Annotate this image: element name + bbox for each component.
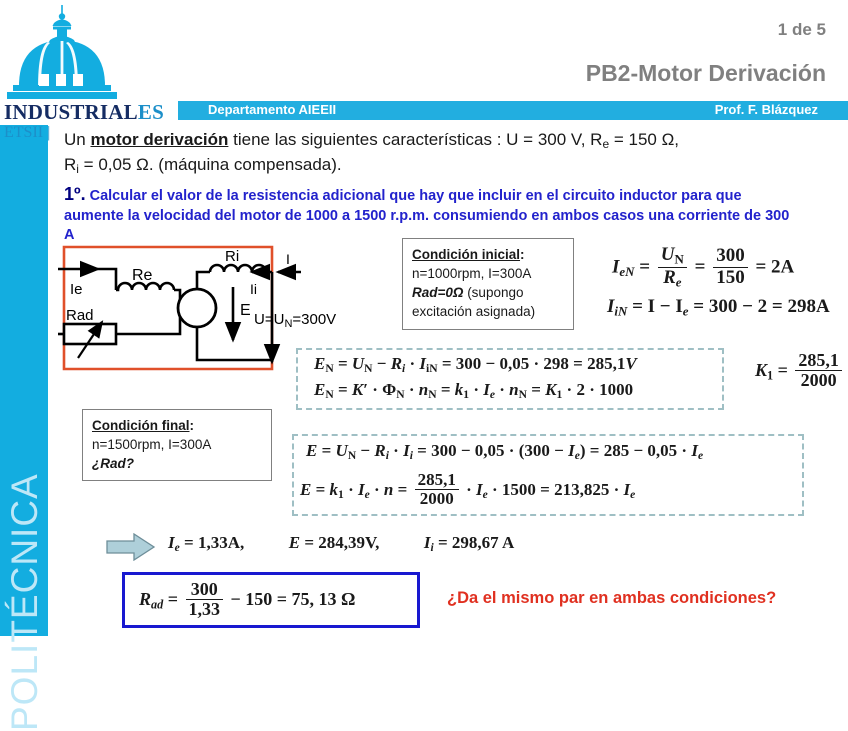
stmt-emphasis: motor derivación [90, 130, 228, 149]
cond-inicial-heading-text: Condición inicial [412, 247, 520, 262]
logo-sub-text: ETSII [4, 124, 43, 141]
stmt-line2-a: R [64, 155, 76, 174]
header-bar: Departamento AIEEII Prof. F. Blázquez [178, 101, 848, 120]
cond-inicial-colon: : [520, 247, 525, 262]
cond-inicial-line1: n=1000rpm, I=300A [412, 264, 564, 283]
result-ie-value: = 1,33A, [180, 533, 244, 552]
k1-eq: = [778, 360, 788, 380]
cond-inicial-line2: Rad=0Ω (supongo excitación asignada) [412, 283, 564, 321]
result-ii-value: = 298,67 A [434, 533, 515, 552]
condicion-inicial-box: Condición inicial: n=1000rpm, I=300A Rad… [402, 238, 574, 330]
stmt-line2-b: = 0,05 Ω. (máquina compensada). [79, 155, 342, 174]
logo-word-main: INDUSTRIAL [4, 100, 138, 124]
department-label: Departamento AIEEII [208, 102, 336, 117]
iin-rest: = 300 − 2 = 298A [689, 296, 830, 317]
condicion-final-box: Condición final: n=1500rpm, I=300A ¿Rad? [82, 409, 272, 481]
stmt-part-b: tiene las siguientes características : U… [228, 130, 602, 149]
k1-lhs-sub: 1 [767, 368, 773, 382]
label-e: E [240, 302, 251, 319]
logo-wordmark: INDUSTRIALES [4, 100, 164, 125]
right-arrow-callout-icon [106, 533, 156, 561]
ien-frac-2: 300 150 [713, 246, 748, 288]
k1-lhs: K [755, 360, 767, 380]
cond-inicial-heading: Condición inicial: [412, 245, 564, 264]
e-line-1: E = UN − Ri · Ii = 300 − 0,05 · (300 − I… [306, 441, 703, 462]
final-result-box: Rad = 300 1,33 − 150 = 75, 13 Ω [122, 572, 420, 628]
label-u: U=UN=300V [254, 311, 336, 330]
rad-result: 75, 13 Ω [292, 589, 356, 609]
rad-den: 1,33 [186, 599, 224, 619]
ien-num-u: U [661, 244, 675, 265]
cond-final-question: ¿Rad? [92, 454, 262, 473]
rad-lhs: R [139, 589, 151, 609]
dashed-box-e: E = UN − Ri · Ii = 300 − 0,05 · (300 − I… [292, 434, 804, 516]
label-ii: Ii [250, 281, 257, 297]
equation-iin: IiN = I − Ie = 300 − 2 = 298A [607, 296, 830, 320]
ien-den-r-sub: e [676, 274, 682, 289]
ien-result: 2A [771, 256, 794, 277]
results-line: Ie = 1,33A, E = 284,39V, Ii = 298,67 A [168, 533, 514, 554]
k1-fraction: 285,1 2000 [795, 351, 842, 391]
cond-final-heading: Condición final: [92, 416, 262, 435]
question-1: 1º. Calcular el valor de la resistencia … [64, 182, 799, 246]
cond-final-line1: n=1500rpm, I=300A [92, 435, 262, 454]
dome-logo-icon [5, 4, 125, 100]
dashed-box-en: EN = UN − Ri · IiN = 300 − 0,05 · 298 = … [296, 348, 724, 410]
en-line-1: EN = UN − Ri · IiN = 300 − 0,05 · 298 = … [314, 354, 637, 375]
label-ie: Ie [70, 281, 83, 298]
equation-k1: K1 = 285,1 2000 [755, 352, 845, 392]
results-arrow [106, 533, 156, 566]
page-number: 1 de 5 [778, 20, 826, 40]
ien-num-u-sub: N [675, 252, 684, 267]
result-e-label: E [289, 533, 300, 552]
rad-tail: − 150 = [231, 589, 288, 609]
ien-den-r: R [663, 267, 676, 288]
k1-num: 285,1 [795, 351, 842, 370]
en-line-2: EN = K′ · ΦN · nN = k1 · Ie · nN = K1 · … [314, 380, 633, 401]
cond-final-heading-text: Condición final [92, 418, 190, 433]
label-i: I [286, 251, 290, 267]
result-e-value: = 284,39V, [300, 533, 379, 552]
rad-fraction: 300 1,33 [186, 580, 224, 620]
label-re: Re [132, 267, 153, 284]
professor-label: Prof. F. Blázquez [715, 102, 818, 117]
label-ri: Ri [225, 248, 239, 265]
ien-frac-1: UN Re [658, 245, 687, 289]
iin-rhs: = I − I [632, 296, 683, 317]
ien-eq2: = [695, 256, 706, 277]
k1-den: 2000 [795, 370, 842, 390]
logo-word-soft: ES [138, 100, 164, 124]
ien-frac1-num: UN [658, 245, 687, 267]
page-title: PB2-Motor Derivación [586, 60, 826, 87]
cond-inicial-rad: Rad=0Ω [412, 285, 463, 300]
ien-eq1: = [639, 256, 650, 277]
equation-ien: IeN = UN Re = 300 150 = 2A [612, 246, 794, 290]
rad-lhs-sub: ad [151, 597, 163, 611]
e-line-2: E = k1 · Ie · n = 285,12000 · Ie · 1500 … [300, 472, 635, 510]
final-question: ¿Da el mismo par en ambas condiciones? [447, 589, 776, 608]
rad-equation: Rad = 300 1,33 − 150 = 75, 13 Ω [139, 581, 355, 621]
rad-num: 300 [186, 580, 224, 599]
iin-lhs-sub: iN [614, 304, 627, 319]
question-1-text: Calcular el valor de la resistencia adic… [64, 188, 789, 243]
ien-frac2-den: 150 [713, 267, 748, 289]
sidebar-vertical-label: POLITÉCNICA [4, 271, 46, 731]
institution-logo: INDUSTRIALES ETSII| [2, 4, 177, 124]
ien-eq3: = [755, 256, 766, 277]
slide-canvas: POLITÉCNICA [0, 0, 848, 636]
label-rad: Rad [66, 307, 94, 324]
result-ie-label: I [168, 533, 175, 552]
ien-frac1-den: Re [658, 267, 687, 290]
stmt-part-c: = 150 Ω, [609, 130, 679, 149]
logo-sub-divider: | [43, 124, 50, 141]
cond-final-colon: : [190, 418, 195, 433]
problem-statement: Un motor derivación tiene las siguientes… [64, 128, 784, 179]
logo-subtitle: ETSII| [4, 124, 50, 142]
stmt-part-a: Un [64, 130, 90, 149]
rad-eq: = [168, 589, 178, 609]
ien-lhs-sub: eN [619, 264, 634, 279]
left-brand-sidebar: POLITÉCNICA [0, 125, 48, 636]
question-1-number: 1º. [64, 184, 86, 204]
ien-frac2-num: 300 [713, 246, 748, 267]
